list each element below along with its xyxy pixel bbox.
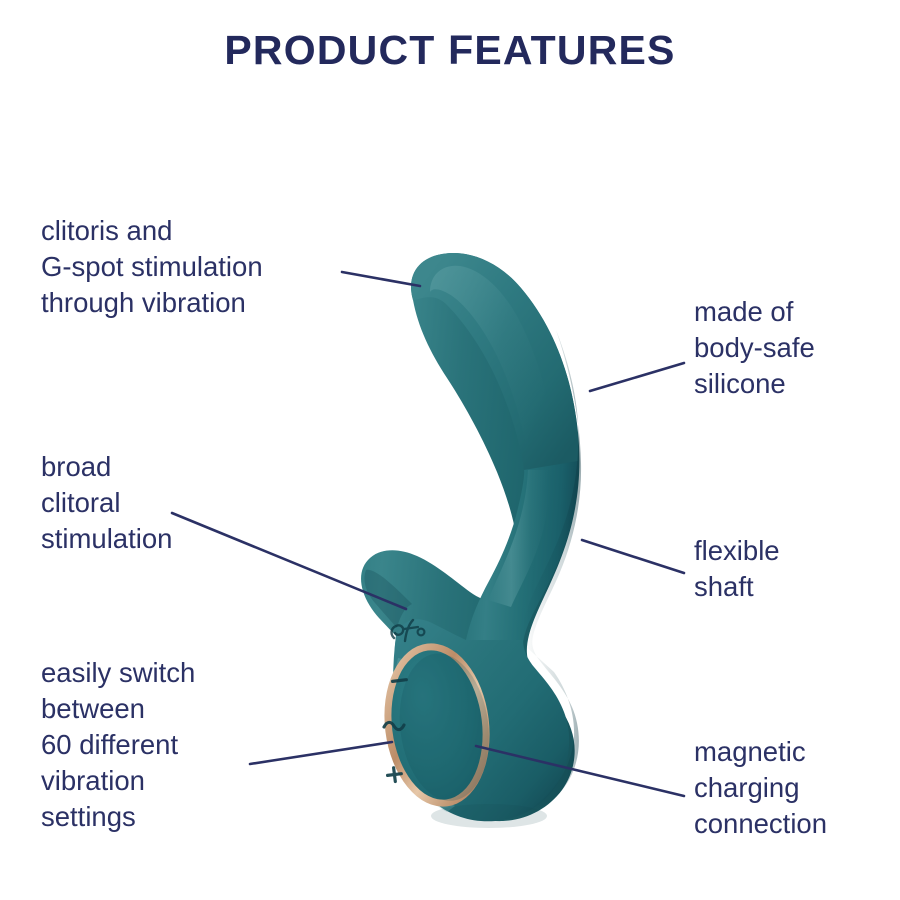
- highlight-head: [394, 658, 455, 812]
- control-panel-surface[interactable]: [383, 645, 491, 805]
- callout-body-safe-silicone: made of body-safe silicone: [694, 294, 815, 402]
- page-title: PRODUCT FEATURES: [0, 27, 900, 74]
- callout-broad-clitoral-stimulation: broad clitoral stimulation: [41, 449, 172, 557]
- callout-vibration-settings: easily switch between 60 different vibra…: [41, 655, 195, 835]
- control-panel[interactable]: [375, 637, 498, 812]
- minus-icon[interactable]: [391, 678, 408, 683]
- leader-line-broad-clitoral: [172, 513, 406, 609]
- contact-shadow: [431, 804, 547, 828]
- control-ring-gold: [375, 637, 498, 812]
- callout-clitoris-gspot-stimulation: clitoris and G-spot stimulation through …: [41, 213, 263, 321]
- product-shaft: [466, 461, 578, 658]
- leader-line-magnetic-charging: [476, 746, 684, 796]
- satisfyer-logo: [392, 620, 425, 641]
- shade-hook-underside: [364, 570, 412, 628]
- callout-magnetic-charging-connection: magnetic charging connection: [694, 734, 827, 842]
- leader-line-vibration-settings: [250, 742, 392, 764]
- leader-line-silicone: [590, 363, 684, 391]
- product-body: [361, 253, 581, 828]
- product-head: [393, 619, 569, 821]
- wave-icon[interactable]: [384, 722, 404, 729]
- plus-icon[interactable]: [386, 766, 403, 783]
- leader-line-flexible-shaft: [582, 540, 684, 573]
- highlight-upper-arm: [430, 266, 553, 456]
- control-panel-inner-shadow: [392, 648, 497, 806]
- leader-lines: [172, 272, 684, 796]
- callout-flexible-shaft: flexible shaft: [694, 533, 780, 605]
- leader-line-clitoris-gspot: [342, 272, 420, 286]
- product-features-page: PRODUCT FEATURES: [0, 0, 900, 900]
- product-tip: [411, 253, 578, 470]
- highlight-shaft: [488, 470, 549, 607]
- shade-right-edge: [522, 330, 581, 812]
- product-silhouette: [361, 253, 579, 821]
